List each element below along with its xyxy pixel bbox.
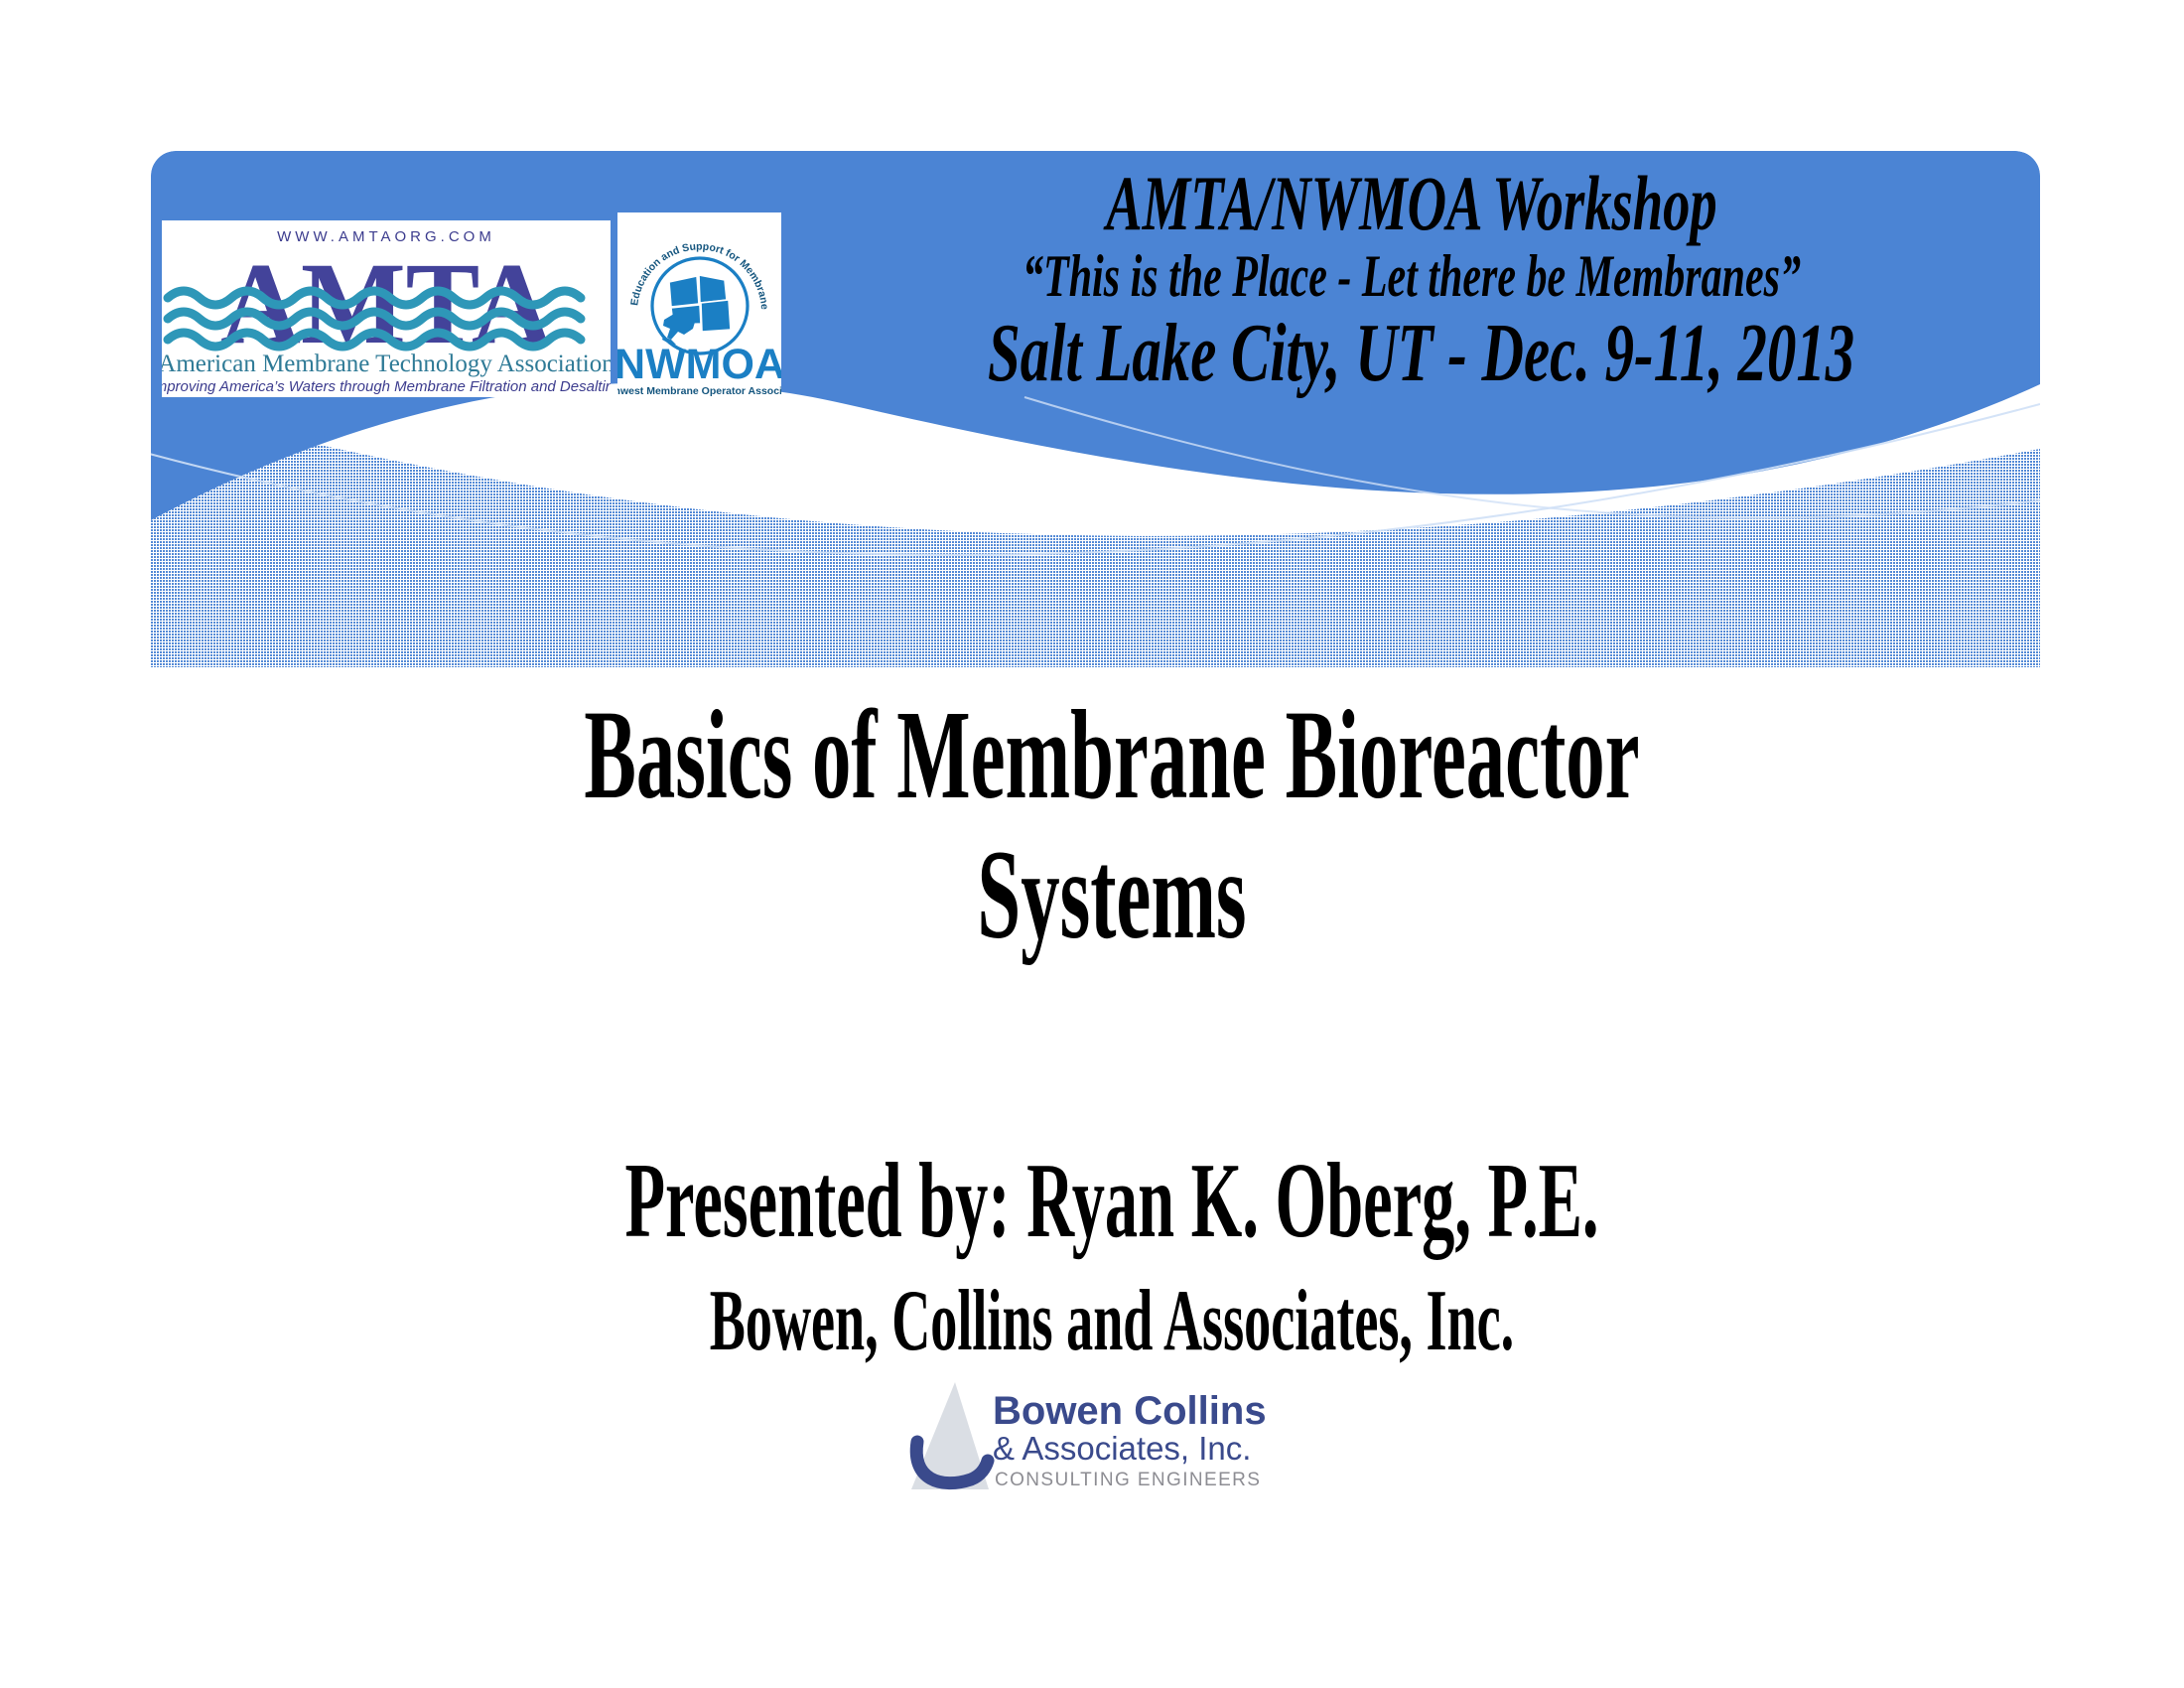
bc-line-3: CONSULTING ENGINEERS xyxy=(995,1470,1261,1490)
header-text-block: AMTA/NWMOA Workshop “This is the Place -… xyxy=(806,159,2017,396)
bowen-collins-logo-graphic: Bowen Collins & Associates, Inc. CONSULT… xyxy=(893,1368,1310,1507)
bc-line-1: Bowen Collins xyxy=(993,1389,1267,1433)
workshop-tagline: “This is the Place - Let there be Membra… xyxy=(988,245,1836,307)
amta-logo-graphic: WWW.AMTAORG.COM AMTA American Membrane T… xyxy=(162,220,611,397)
slide-title: Basics of Membrane Bioreactor Systems xyxy=(0,685,2184,965)
amta-logo: WWW.AMTAORG.COM AMTA American Membrane T… xyxy=(162,220,611,397)
slide-title-line-2: Systems xyxy=(428,825,1796,965)
presenter-company: Bowen, Collins and Associates, Inc. xyxy=(428,1272,1796,1371)
presentation-slide: WWW.AMTAORG.COM AMTA American Membrane T… xyxy=(0,0,2184,1688)
slide-title-line-1: Basics of Membrane Bioreactor xyxy=(428,685,1796,825)
workshop-title: AMTA/NWMOA Workshop xyxy=(988,163,1836,243)
nwmoa-logo: Education and Support for Membrane Treat… xyxy=(617,212,781,401)
workshop-location-date: Salt Lake City, UT - Dec. 9-11, 2013 xyxy=(988,310,1836,396)
bowen-collins-logo: Bowen Collins & Associates, Inc. CONSULT… xyxy=(893,1368,1310,1507)
amta-tagline: Improving America’s Waters through Membr… xyxy=(162,378,611,395)
presenter-name: Presented by: Ryan K. Oberg, P.E. xyxy=(428,1142,1796,1262)
presenter-block: Presented by: Ryan K. Oberg, P.E. Bowen,… xyxy=(0,1142,2184,1371)
bc-line-2: & Associates, Inc. xyxy=(993,1430,1251,1467)
nwmoa-wordmark: NWMOA xyxy=(617,341,781,388)
nwmoa-org-name: Northwest Membrane Operator Association xyxy=(617,385,781,397)
title-banner: WWW.AMTAORG.COM AMTA American Membrane T… xyxy=(151,151,2040,667)
nwmoa-logo-graphic: Education and Support for Membrane Treat… xyxy=(617,212,781,401)
amta-org-name: American Membrane Technology Association xyxy=(162,351,611,377)
